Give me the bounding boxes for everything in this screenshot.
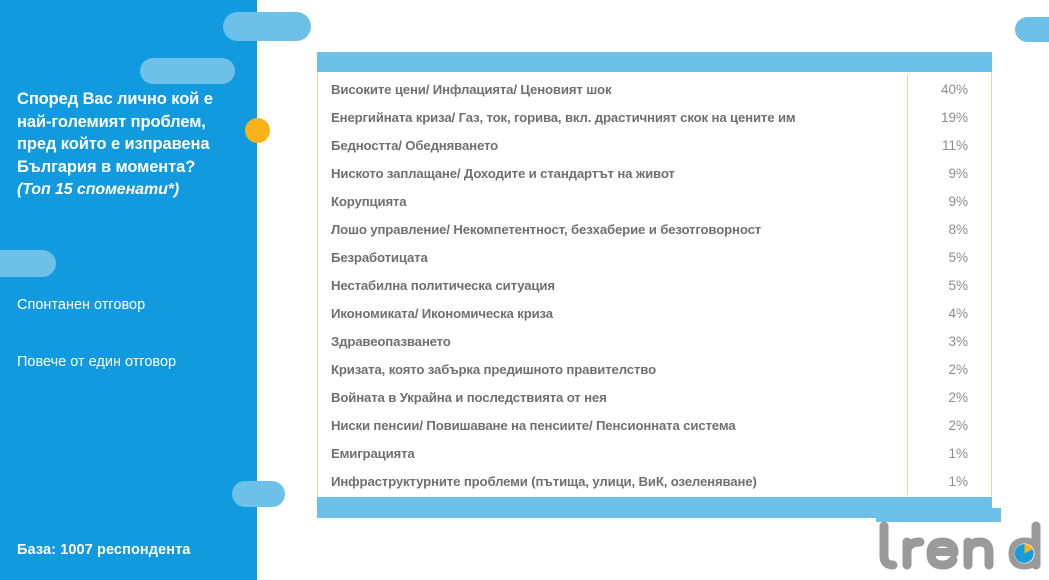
row-value: 2%	[907, 383, 991, 411]
table-row: Инфраструктурните проблеми (пътища, улиц…	[318, 467, 991, 495]
row-value: 11%	[907, 131, 991, 159]
table-row: Икономиката/ Икономическа криза 4%	[318, 299, 991, 327]
table-row: Лошо управление/ Некомпетентност, безхаб…	[318, 215, 991, 243]
row-value: 3%	[907, 327, 991, 355]
table-row: Кризата, която забърка предишното правит…	[318, 355, 991, 383]
pie-chart-icon	[1015, 544, 1035, 564]
page-title: Според Вас лично кой е най-големият проб…	[17, 88, 245, 201]
row-value: 40%	[907, 75, 991, 103]
note-multiple-answers: Повече от един отговор	[17, 353, 176, 371]
note-spontaneous-answer: Спонтанен отговор	[17, 296, 145, 314]
decorative-pill-left-edge	[0, 250, 56, 277]
row-label: Енергийната криза/ Газ, ток, горива, вкл…	[318, 110, 907, 125]
row-label: Икономиката/ Икономическа криза	[318, 306, 907, 321]
table-row: Енергийната криза/ Газ, ток, горива, вкл…	[318, 103, 991, 131]
decorative-pill-sidebar-middle	[140, 58, 235, 84]
row-value: 5%	[907, 271, 991, 299]
row-value: 8%	[907, 215, 991, 243]
row-value: 2%	[907, 411, 991, 439]
base-label: База: 1007 респондента	[17, 542, 190, 558]
row-label: Кризата, която забърка предишното правит…	[318, 362, 907, 377]
table-row: Корупцията 9%	[318, 187, 991, 215]
row-value: 19%	[907, 103, 991, 131]
table-row: Емиграцията 1%	[318, 439, 991, 467]
row-label: Ниски пенсии/ Повишаване на пенсиите/ Пе…	[318, 418, 907, 433]
slide-root: Според Вас лично кой е най-големият проб…	[0, 0, 1049, 580]
row-value: 4%	[907, 299, 991, 327]
table-row: Нестабилна политическа ситуация 5%	[318, 271, 991, 299]
decorative-pill-sidebar-top-right	[223, 12, 311, 41]
row-label: Емиграцията	[318, 446, 907, 461]
row-value: 9%	[907, 187, 991, 215]
sidebar: Според Вас лично кой е най-големият проб…	[0, 0, 257, 580]
row-label: Бедността/ Обедняването	[318, 138, 907, 153]
row-label: Високите цени/ Инфлацията/ Ценовият шок	[318, 82, 907, 97]
row-label: Нестабилна политическа ситуация	[318, 278, 907, 293]
row-label: Здравеопазването	[318, 334, 907, 349]
table-row: Бедността/ Обедняването 11%	[318, 131, 991, 159]
table-row: Високите цени/ Инфлацията/ Ценовият шок …	[318, 75, 991, 103]
page-title-text: Според Вас лично кой е най-големият проб…	[17, 90, 213, 176]
trend-logo	[876, 508, 1041, 576]
row-value: 5%	[907, 243, 991, 271]
row-value: 9%	[907, 159, 991, 187]
row-label: Инфраструктурните проблеми (пътища, улиц…	[318, 474, 907, 489]
decorative-pill-page-top-right	[1015, 17, 1049, 42]
row-value: 1%	[907, 439, 991, 467]
decorative-orange-dot	[245, 118, 270, 143]
table-body: Високите цени/ Инфлацията/ Ценовият шок …	[317, 72, 992, 497]
row-label: Ниското заплащане/ Доходите и стандартът…	[318, 166, 907, 181]
row-label: Лошо управление/ Некомпетентност, безхаб…	[318, 222, 907, 237]
logo-wordmark-icon	[876, 520, 1041, 576]
table-header-bar	[317, 52, 992, 72]
row-label: Войната в Украйна и последствията от нея	[318, 390, 907, 405]
page-subtitle: (Топ 15 споменати*)	[17, 178, 245, 201]
table-row: Войната в Украйна и последствията от нея…	[318, 383, 991, 411]
decorative-pill-sidebar-bottom	[232, 481, 285, 507]
row-label: Корупцията	[318, 194, 907, 209]
table-row: Ниското заплащане/ Доходите и стандартът…	[318, 159, 991, 187]
table-row: Безработицата 5%	[318, 243, 991, 271]
row-label: Безработицата	[318, 250, 907, 265]
table-row: Ниски пенсии/ Повишаване на пенсиите/ Пе…	[318, 411, 991, 439]
table-row: Здравеопазването 3%	[318, 327, 991, 355]
row-value: 2%	[907, 355, 991, 383]
row-value: 1%	[907, 467, 991, 495]
results-table: Високите цени/ Инфлацията/ Ценовият шок …	[317, 52, 992, 518]
